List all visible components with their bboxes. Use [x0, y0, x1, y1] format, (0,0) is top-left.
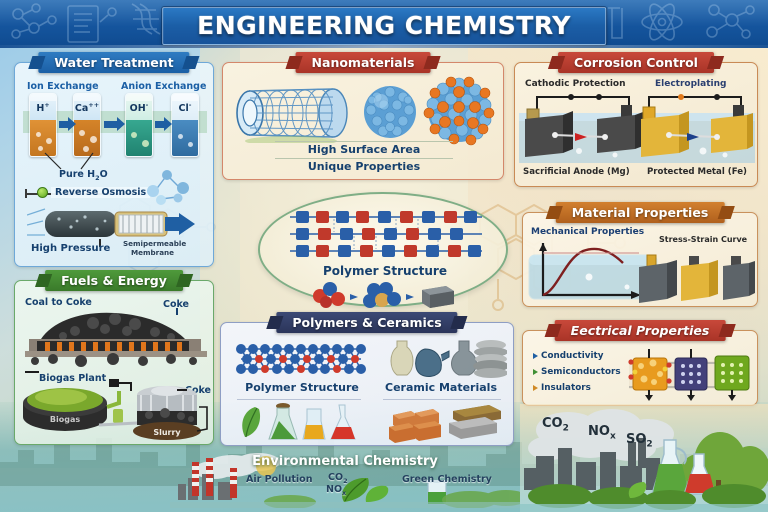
panel-title-electrical-properties: Eectrical Properties [555, 320, 726, 341]
label-high-pressure: High Pressure [31, 243, 110, 254]
header-bottom-rule [0, 45, 768, 48]
grey-polymer-block [422, 286, 454, 308]
carbon-nanotube-icon [233, 77, 351, 143]
page-title: ENGINEERING CHEMISTRY [197, 11, 571, 41]
coke-top-tick [176, 308, 178, 315]
coke-oven-diagram [23, 309, 209, 367]
page-header: ENGINEERING CHEMISTRY [0, 0, 768, 48]
panel-nanomaterials[interactable]: Nanomaterials [222, 62, 504, 180]
conductivity-blocks-diagram [627, 347, 753, 401]
lab-glassware-row [235, 401, 367, 443]
polymer-lattice-icon [233, 337, 369, 379]
nano-caption-rule-top [275, 141, 453, 142]
doped-nanocluster-icon [421, 73, 497, 149]
caption-sacrificial-anode: Sacrificial Anode (Mg) [523, 167, 630, 177]
polyc-divider-left [237, 399, 361, 400]
label-green-chemistry: Green Chemistry [402, 474, 492, 485]
label-reverse-osmosis: Reverse Osmosis [51, 187, 150, 198]
arrow-ca-to-oh [104, 121, 118, 128]
leaf-icon [242, 407, 260, 437]
ion-label-ca: Ca++ [73, 101, 101, 114]
nano-caption-rule-mid [275, 158, 453, 159]
panel-title-water-treatment: Water Treatment [38, 52, 189, 73]
panel-title-polymers-ceramics: Polymers & Ceramics [276, 312, 457, 333]
label-co2: CO2 [328, 472, 348, 485]
ceramic-vessels-icon [387, 335, 507, 381]
panel-polymer-structure-oval[interactable]: Polymer Structure [258, 192, 508, 307]
caption-unique-properties: Unique Properties [223, 160, 505, 173]
label-electroplating: Electroplating [655, 79, 726, 89]
arrow-oh-to-cl [155, 121, 165, 128]
panel-fuels-energy[interactable]: Fuels & Energy Coal to Coke Coke Biogas … [14, 280, 214, 445]
reverse-osmosis-tick [25, 189, 27, 198]
panel-title-material-properties: Material Properties [556, 202, 725, 223]
bricks-and-tiles-row [385, 401, 507, 443]
panel-polymers-ceramics[interactable]: Polymers & Ceramics [220, 322, 514, 446]
label-anion-exchange: Anion Exchange [121, 81, 206, 92]
biogas-leader-line [25, 371, 39, 373]
label-membrane-line1: Semipermeable [123, 239, 186, 248]
arrow-h-to-ca [59, 121, 69, 128]
molecule-model-row [310, 280, 460, 308]
stress-strain-and-samples [527, 239, 755, 305]
pollution-scene: CO2 NOx SO2 [520, 404, 768, 512]
brick-stack-icon [389, 409, 441, 443]
label-mechanical-properties: Mechanical Properties [531, 227, 644, 237]
label-cathodic-protection: Cathodic Protection [525, 79, 626, 89]
water-molecule-icon [141, 167, 199, 207]
electrical-item-conductivity[interactable]: Conductivity [533, 351, 603, 361]
blue-molecule-model [363, 282, 401, 308]
biogas-plant-diagram: Biogas Slurry [21, 377, 211, 443]
environmental-chemistry-title: Environmental Chemistry [170, 454, 520, 469]
caption-high-surface-area: High Surface Area [223, 143, 505, 156]
panel-title-nanomaterials: Nanomaterials [296, 52, 431, 73]
ion-label-oh: OH- [125, 101, 153, 114]
panel-environmental-chemistry[interactable]: Environmental Chemistry Air Pollution CO… [170, 452, 520, 508]
polymer-chain-diagram [288, 208, 484, 260]
caption-polymer-structure: Polymer Structure [227, 381, 377, 394]
caption-polymer-structure-oval: Polymer Structure [260, 264, 510, 278]
svg-text:Slurry: Slurry [153, 428, 181, 437]
electrical-item-insulators[interactable]: Insulators [533, 383, 591, 393]
label-ion-exchange: Ion Exchange [27, 81, 99, 92]
amber-flask-icon [303, 409, 325, 439]
panel-electrical-properties[interactable]: Eectrical Properties Conductivity Semico… [522, 330, 758, 406]
caption-ceramic-materials: Ceramic Materials [371, 381, 511, 394]
label-pure-water: Pure H2O [59, 169, 108, 182]
panel-title-corrosion-control: Corrosion Control [558, 52, 714, 73]
red-flask-icon [331, 405, 355, 439]
ion-label-cl: Cl- [171, 101, 199, 114]
cloud-label-co2: CO2 [542, 416, 569, 434]
svg-text:Biogas: Biogas [50, 415, 80, 424]
title-plate: ENGINEERING CHEMISTRY [162, 7, 606, 45]
reverse-osmosis-bullet-icon [37, 187, 48, 198]
bullet-marker-icon [533, 369, 538, 375]
panel-material-properties[interactable]: Material Properties Mechanical Propertie… [522, 212, 758, 307]
cloud-label-so2: SO2 [626, 432, 653, 450]
bullet-marker-icon [533, 385, 538, 391]
cloud-label-nox: NOx [588, 424, 616, 442]
label-nox: NOx [326, 484, 346, 497]
green-flask-icon [269, 403, 297, 439]
label-membrane-line2: Membrane [131, 248, 174, 257]
label-air-pollution: Air Pollution [246, 474, 312, 485]
caption-protected-metal: Protected Metal (Fe) [647, 167, 747, 177]
leaf-icon [342, 478, 388, 502]
bullet-marker-icon [533, 353, 538, 359]
coke-right-leader [177, 389, 187, 391]
panel-water-treatment[interactable]: Water Treatment Ion Exchange Anion Excha… [14, 62, 214, 267]
panel-title-fuels-energy: Fuels & Energy [45, 270, 183, 291]
electrical-item-semiconductors[interactable]: Semiconductors [533, 367, 621, 377]
label-coal-to-coke: Coal to Coke [25, 297, 92, 308]
tile-slab-icon [449, 405, 501, 439]
corrosion-electrochemical-cells [519, 91, 755, 163]
nanoparticle-sphere-icon [361, 83, 419, 141]
panel-corrosion-control[interactable]: Corrosion Control Cathodic Protection El… [514, 62, 758, 187]
ion-label-h: H+ [29, 101, 57, 114]
polyc-divider-right [383, 399, 501, 400]
red-molecule-model [313, 282, 345, 308]
